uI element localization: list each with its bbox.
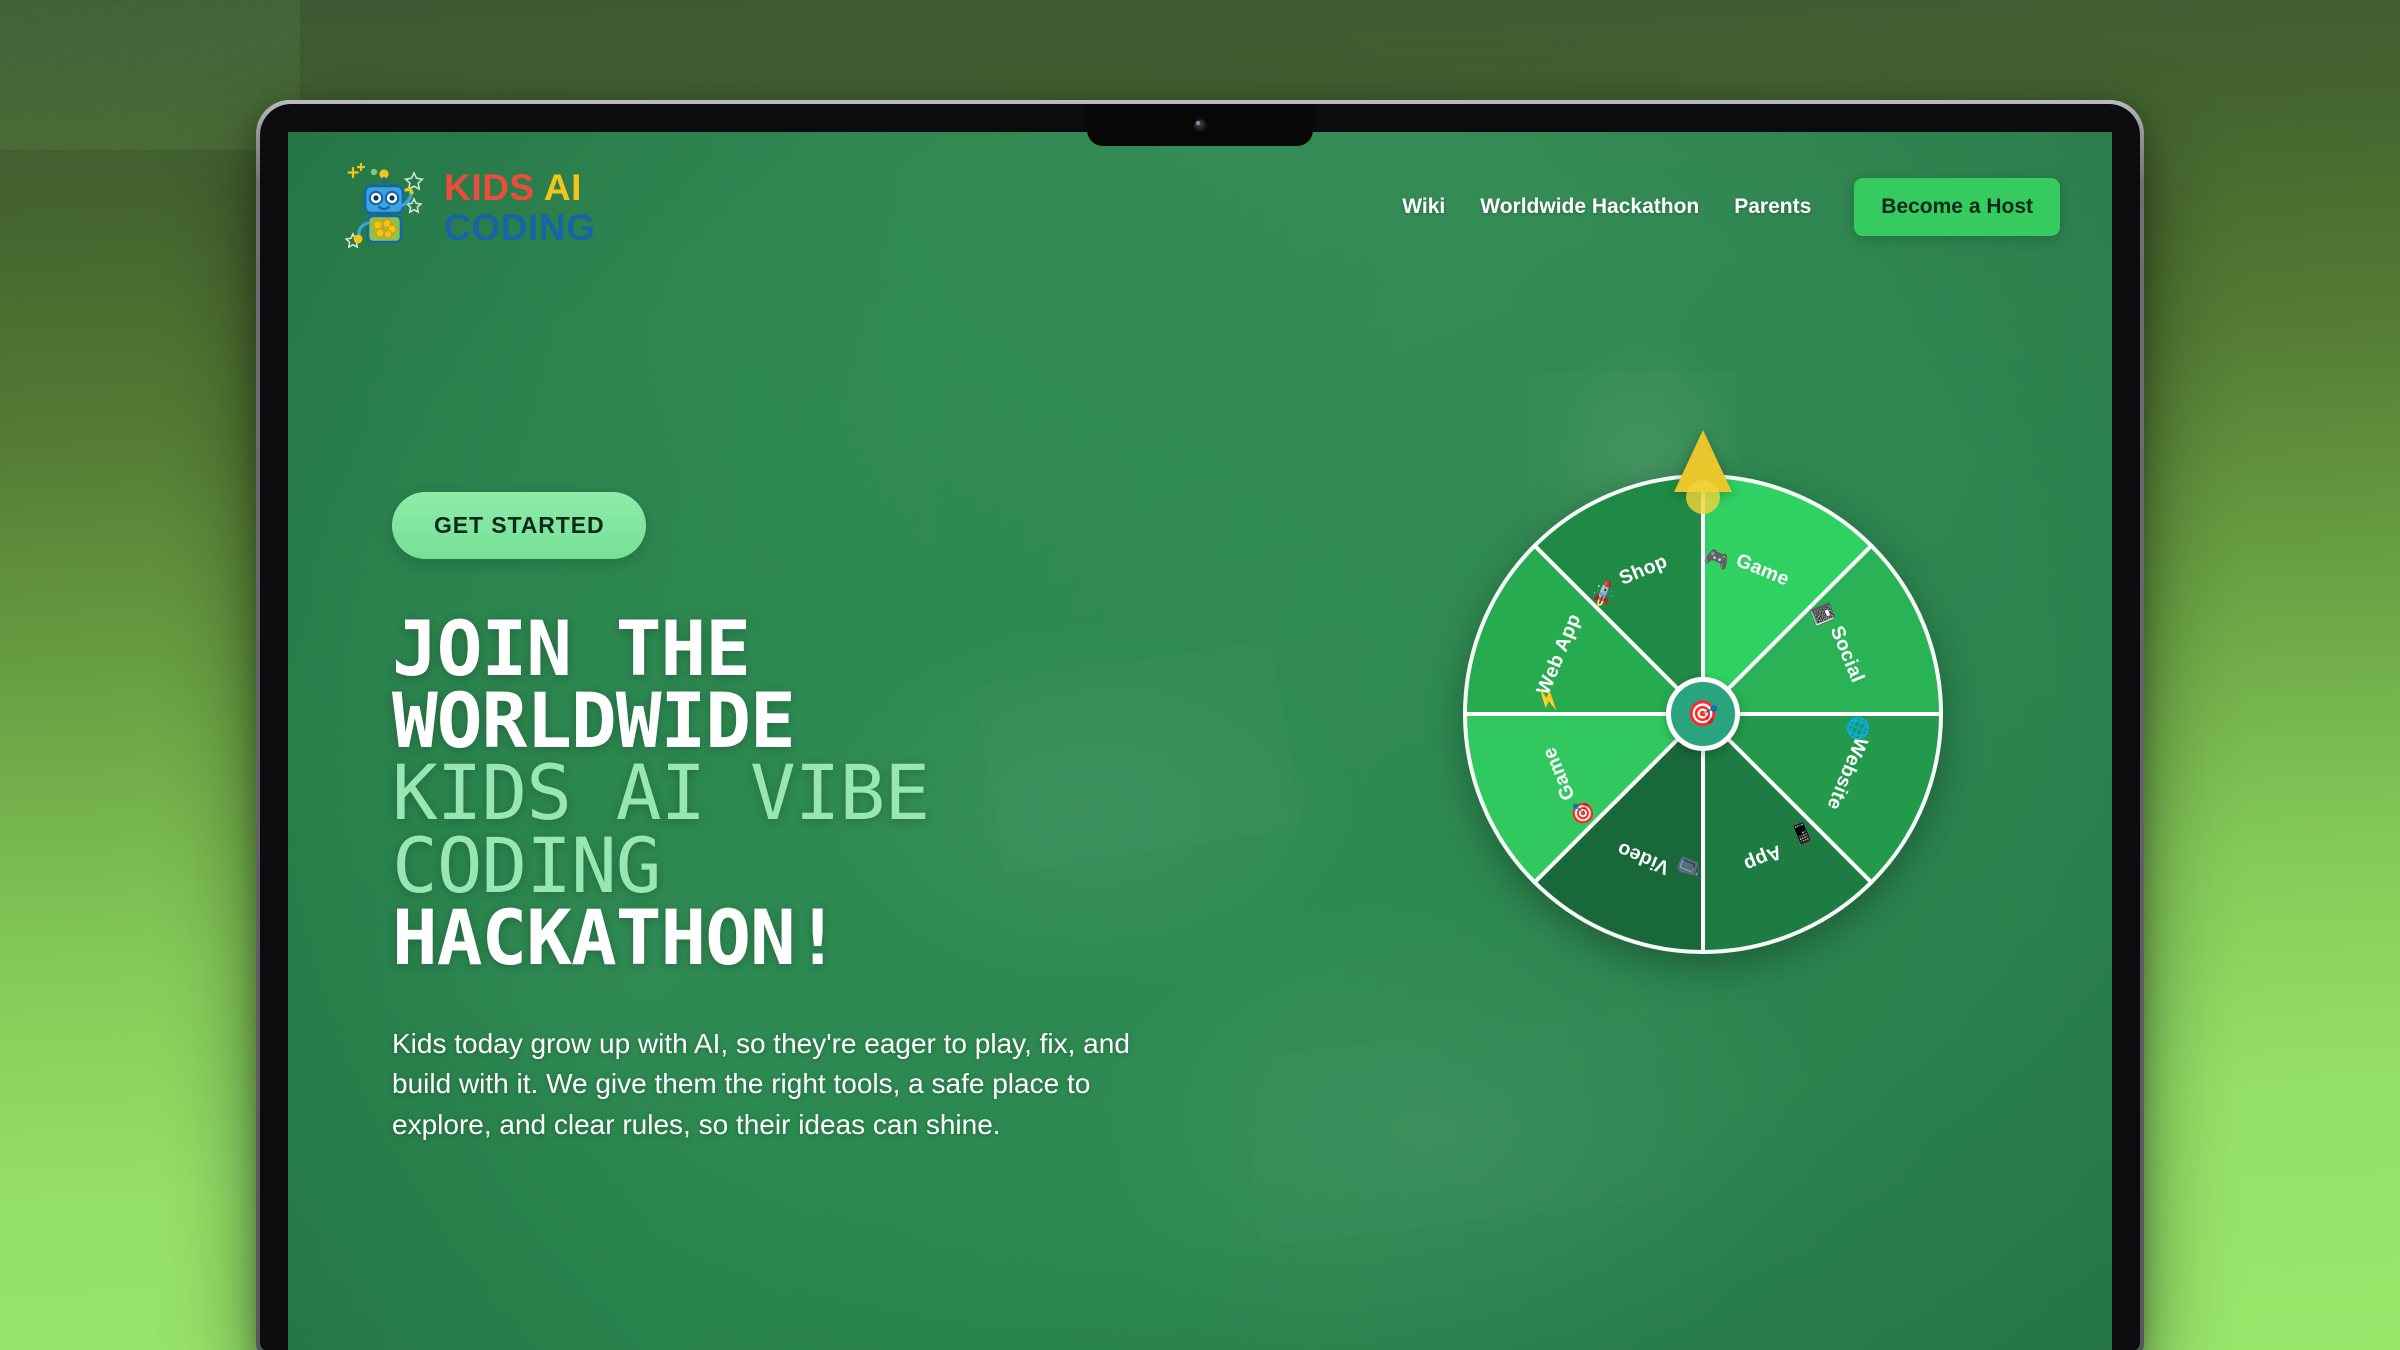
website-screen: KIDSAI CODING Wiki Worldwide Hackathon P… — [288, 132, 2112, 1350]
laptop-notch — [1087, 104, 1313, 146]
logo-text-ai: AI — [544, 167, 582, 208]
become-a-host-button[interactable]: Become a Host — [1854, 178, 2060, 236]
site-logo[interactable]: KIDSAI CODING — [344, 161, 596, 253]
triangle-pointer-icon — [1672, 430, 1734, 520]
logo-text-kids: KIDS — [444, 167, 535, 208]
hero-description: Kids today grow up with AI, so they're e… — [392, 1024, 1192, 1145]
logo-wordmark: KIDSAI CODING — [444, 169, 596, 246]
headline-line-4: CODING — [392, 830, 1312, 902]
camera-icon — [1194, 119, 1207, 132]
grain-texture — [0, 0, 300, 150]
headline-line-3: KIDS AI VIBE — [392, 757, 1312, 829]
nav-item-worldwide-hackathon[interactable]: Worldwide Hackathon — [1480, 195, 1699, 219]
logo-text-coding: CODING — [444, 209, 596, 246]
nav-item-wiki[interactable]: Wiki — [1402, 195, 1445, 219]
headline-line-2: WORLDWIDE — [392, 685, 1312, 757]
get-started-button[interactable]: GET STARTED — [392, 492, 646, 559]
dart-target-icon[interactable]: 🎯 — [1666, 677, 1740, 751]
laptop-bezel: KIDSAI CODING Wiki Worldwide Hackathon P… — [260, 104, 2140, 1350]
nav-item-parents[interactable]: Parents — [1734, 195, 1811, 219]
laptop-device: KIDSAI CODING Wiki Worldwide Hackathon P… — [256, 100, 2144, 1350]
main-navigation: Wiki Worldwide Hackathon Parents Become … — [1402, 178, 2060, 236]
site-header: KIDSAI CODING Wiki Worldwide Hackathon P… — [288, 132, 2112, 282]
page-backdrop: KIDSAI CODING Wiki Worldwide Hackathon P… — [0, 0, 2400, 1350]
headline-line-1: JOIN THE — [392, 613, 1312, 685]
robot-mascot-icon — [344, 161, 430, 253]
hero-section: GET STARTED JOIN THE WORLDWIDE KIDS AI V… — [392, 492, 1312, 1145]
spin-wheel-widget[interactable]: Game🎮Social📓Website🌐App📱Video📹Game🎯Web A… — [1453, 422, 1953, 942]
page-title: JOIN THE WORLDWIDE KIDS AI VIBE CODING H… — [392, 613, 1312, 974]
headline-line-5: HACKATHON! — [392, 902, 1312, 974]
